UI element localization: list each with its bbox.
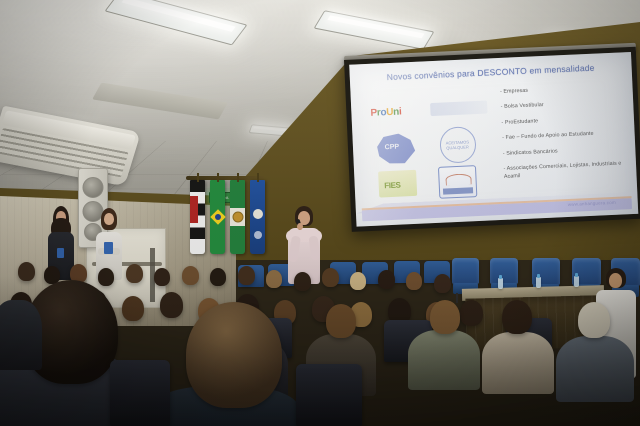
slide-title: Novos convênios para DESCONTO em mensali…	[366, 61, 614, 85]
audience-head	[388, 298, 411, 324]
faint-logo-placeholder	[430, 100, 488, 116]
audience-body	[306, 334, 376, 396]
fies-logo: FIES	[378, 170, 417, 198]
slide-bullet: - Bolsa Vestibular	[501, 98, 628, 112]
water-bottle	[498, 278, 503, 289]
standing-student-left	[48, 206, 74, 280]
presenter	[288, 206, 320, 284]
head-table-skirt	[465, 295, 600, 350]
flag-brazil	[210, 180, 225, 254]
slide-bullet-list: - Empresas - Bolsa Vestibular - ProEstud…	[500, 83, 631, 189]
slide-bullet: - ProEstudante	[501, 114, 628, 128]
standing-student-right	[96, 208, 122, 280]
audience-body-foreground	[150, 386, 300, 426]
slide-footer-url: www.anhanguera.com	[568, 200, 616, 207]
audience-head	[234, 306, 266, 342]
slide-bullet: - Associações Comerciais, Lojistas, Indu…	[503, 160, 630, 182]
audience-head	[430, 300, 460, 334]
photo-scene: SAIDA Novos convênios para DESCONTO em m…	[0, 0, 640, 426]
water-bottle	[536, 277, 541, 288]
audience-head	[312, 296, 335, 322]
audience-head	[350, 302, 372, 327]
slide-logo-group: ProUni CPP FIES ACEITAMOSQUALQUER	[362, 102, 496, 205]
circular-seal-logo: ACEITAMOSQUALQUER	[439, 126, 477, 164]
presentation-slide: Novos convênios para DESCONTO em mensali…	[349, 52, 638, 227]
water-bottle	[574, 276, 579, 287]
slide-bullet: - Sindicatos Bancários	[503, 145, 630, 159]
flag-institution	[250, 180, 265, 254]
audience-chair	[246, 318, 292, 358]
square-badge-logo	[438, 165, 477, 199]
audience-chair	[296, 364, 362, 426]
audience-body	[214, 338, 288, 404]
audience-head	[326, 304, 356, 338]
audience-body-foreground	[0, 352, 142, 426]
slide-bullet: - Empresas	[500, 83, 627, 97]
audience-head	[426, 302, 448, 327]
audience-head	[236, 294, 259, 320]
projection-screen: Novos convênios para DESCONTO em mensali…	[344, 47, 640, 232]
audience-chair	[110, 360, 170, 426]
cpp-logo: CPP	[374, 131, 417, 167]
attendee-right-standing	[596, 268, 636, 378]
audience-head	[274, 300, 296, 325]
prouni-logo: ProUni	[370, 106, 401, 118]
flag-municipal	[230, 180, 245, 254]
slide-bullet: - Fae – Fundo de Apoio ao Estudante	[502, 129, 629, 143]
flag-sao-paulo	[190, 180, 205, 254]
audience-chair	[384, 320, 432, 362]
door-post	[150, 248, 155, 302]
